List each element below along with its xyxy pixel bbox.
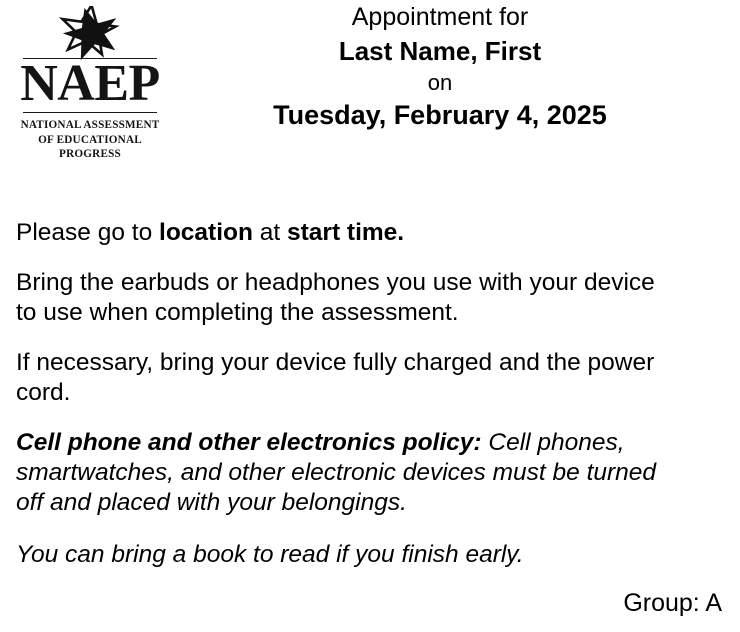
start-time-placeholder: start time. bbox=[287, 219, 404, 246]
naep-tagline: NATIONAL ASSESSMENT OF EDUCATIONAL PROGR… bbox=[14, 118, 166, 162]
logo-rule-bottom bbox=[23, 112, 157, 113]
naep-tagline-line-3: PROGRESS bbox=[14, 147, 166, 162]
instruction-paragraph: Please go to location at start time. bbox=[16, 218, 716, 248]
group-label: Group: A bbox=[623, 588, 722, 618]
naep-star-icon bbox=[14, 6, 166, 58]
naep-tagline-line-2: OF EDUCATIONAL bbox=[14, 133, 166, 148]
header-band: NAEP NATIONAL ASSESSMENT OF EDUCATIONAL … bbox=[0, 0, 740, 210]
location-placeholder: location bbox=[159, 219, 253, 246]
instruction-middle: at bbox=[253, 219, 287, 246]
policy-label: Cell phone and other electronics policy: bbox=[16, 429, 482, 456]
student-name: Last Name, First bbox=[170, 34, 710, 68]
instruction-prefix: Please go to bbox=[16, 219, 159, 246]
policy-paragraph: Cell phone and other electronics policy:… bbox=[16, 428, 688, 518]
appointment-heading: Appointment for Last Name, First on Tues… bbox=[170, 0, 710, 132]
naep-logo: NAEP NATIONAL ASSESSMENT OF EDUCATIONAL … bbox=[14, 6, 166, 162]
appointment-label: Appointment for bbox=[170, 0, 710, 34]
charge-paragraph: If necessary, bring your device fully ch… bbox=[16, 348, 676, 408]
appointment-slip-page: NAEP NATIONAL ASSESSMENT OF EDUCATIONAL … bbox=[0, 0, 740, 632]
appointment-date: Tuesday, February 4, 2025 bbox=[170, 98, 710, 132]
logo-rule-top bbox=[23, 58, 157, 59]
earbuds-paragraph: Bring the earbuds or headphones you use … bbox=[16, 268, 676, 328]
body-content: Please go to location at start time. Bri… bbox=[16, 218, 716, 570]
on-label: on bbox=[170, 68, 710, 98]
book-paragraph: You can bring a book to read if you fini… bbox=[16, 540, 688, 570]
naep-tagline-line-1: NATIONAL ASSESSMENT bbox=[14, 118, 166, 133]
naep-wordmark: NAEP bbox=[14, 59, 166, 110]
